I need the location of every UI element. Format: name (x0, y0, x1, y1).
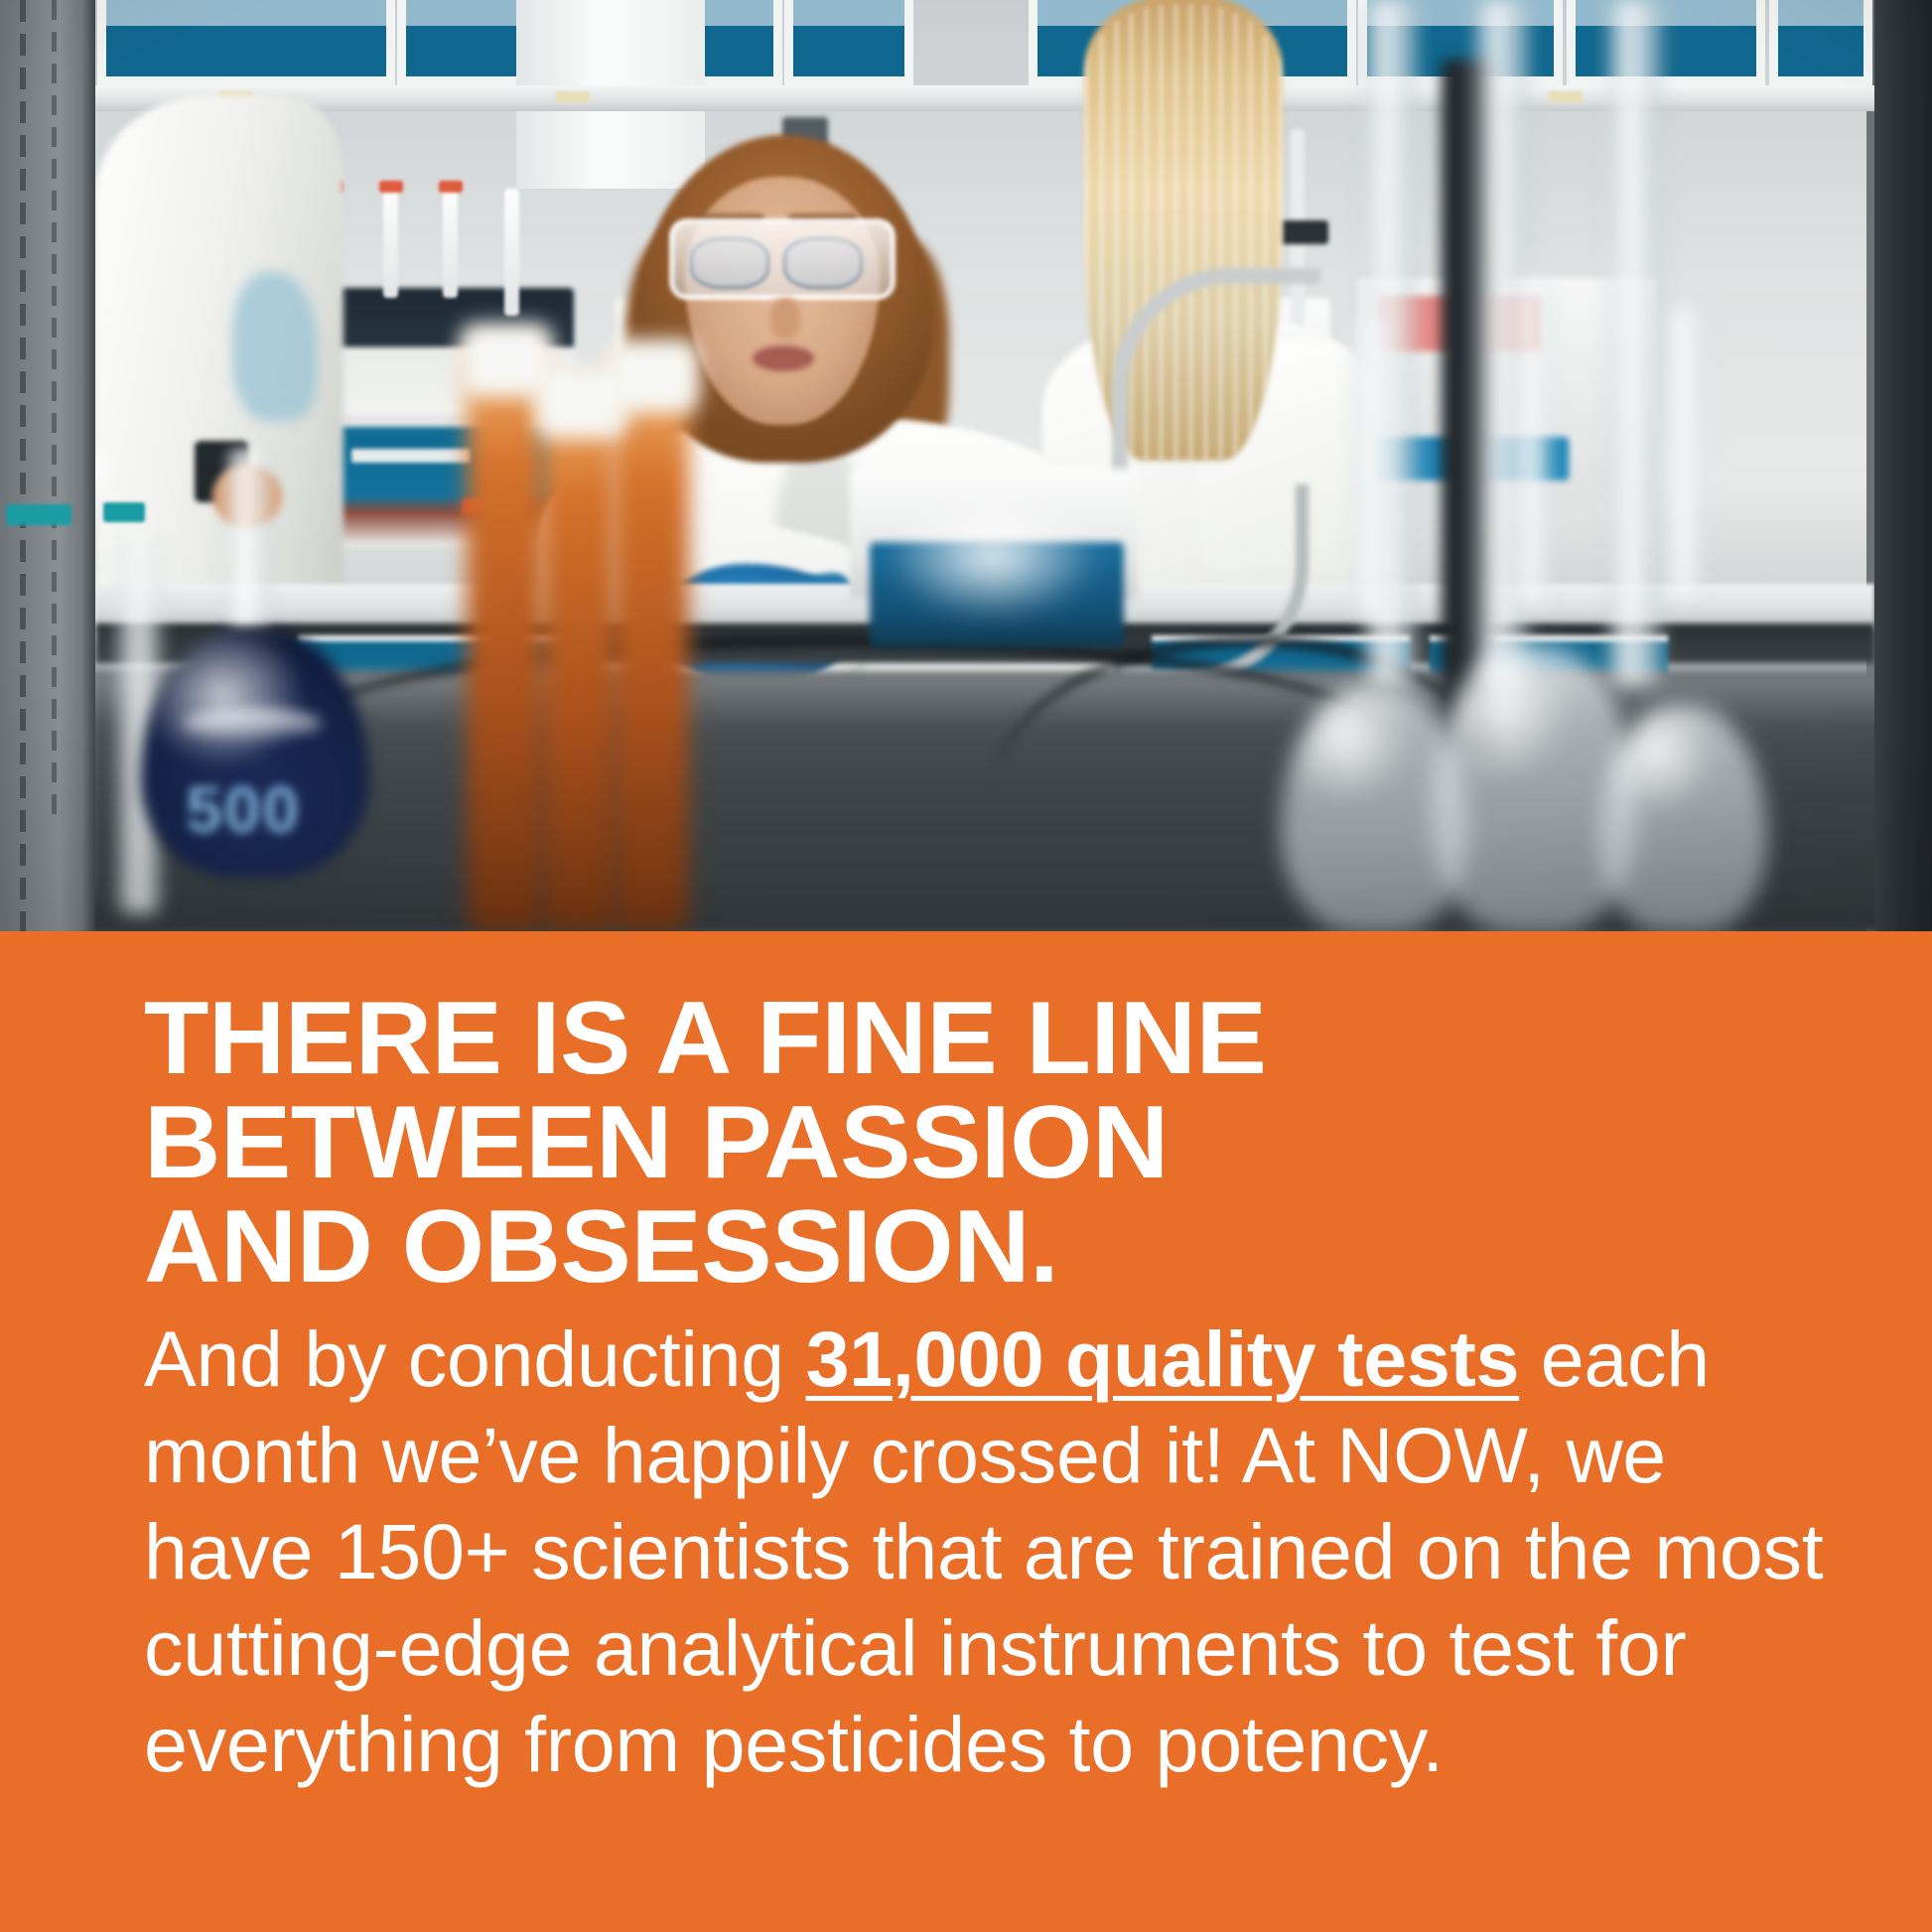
headline: THERE IS A FINE LINE BETWEEN PASSION AND… (144, 987, 1882, 1300)
photo-vignette (0, 0, 1932, 931)
photo-scene: 500 (0, 0, 1932, 931)
orange-text-panel: THERE IS A FINE LINE BETWEEN PASSION AND… (0, 931, 1932, 1932)
body-text-part-1: And by conducting (144, 1314, 806, 1403)
headline-line-1: THERE IS A FINE LINE (144, 987, 1882, 1091)
body-emphasis-stat: 31,000 quality tests (806, 1314, 1520, 1403)
lab-photograph: 500 (0, 0, 1932, 931)
social-post-card: 500 (0, 0, 1932, 1932)
headline-line-3: AND OBSESSION. (144, 1195, 1882, 1300)
headline-line-2: BETWEEN PASSION (144, 1091, 1882, 1195)
body-paragraph: And by conducting 31,000 quality tests e… (144, 1311, 1832, 1792)
